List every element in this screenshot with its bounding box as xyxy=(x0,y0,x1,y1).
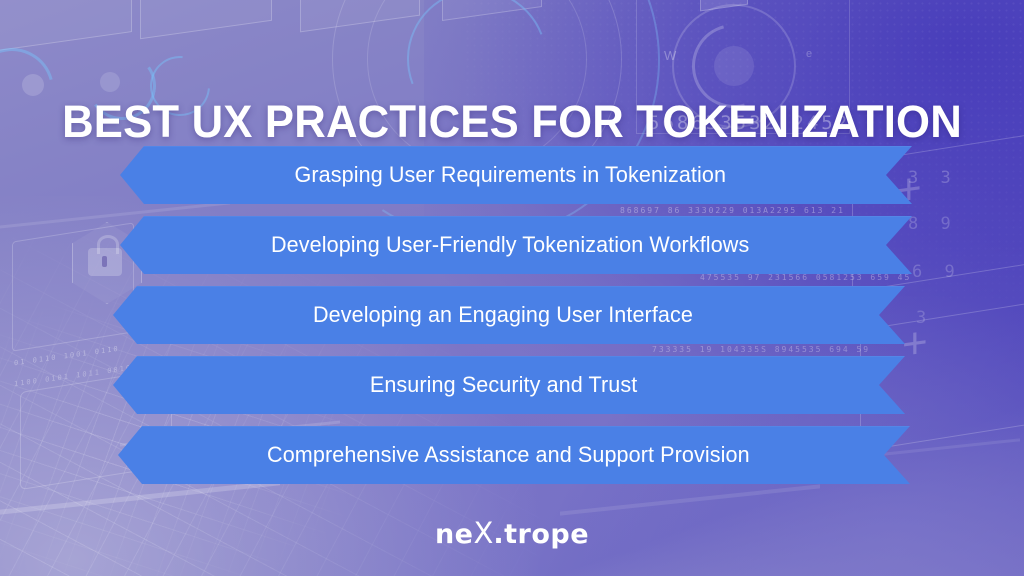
slide-canvas: + + W e 568633532.2452 868697 86 3330229… xyxy=(0,0,1024,576)
slide-title: BEST UX PRACTICES FOR TOKENIZATION xyxy=(15,96,1008,148)
dashboard-panel-outline xyxy=(442,0,542,21)
logo-prefix: ne xyxy=(435,519,474,550)
dashboard-panel-outline xyxy=(140,0,272,39)
practice-banner-label: Ensuring Security and Trust xyxy=(369,372,636,398)
dashboard-panel-outline xyxy=(700,0,748,11)
ring-center-dot xyxy=(100,72,120,92)
logo-suffix: trope xyxy=(504,519,589,550)
dashboard-panel-outline xyxy=(300,0,420,32)
dashboard-panel-outline xyxy=(0,0,132,52)
compass-west-label: W xyxy=(664,48,676,63)
practice-banner-label: Developing User-Friendly Tokenization Wo… xyxy=(271,232,749,258)
compass-east-label: e xyxy=(806,48,812,60)
practice-banner-3[interactable]: Developing an Engaging User Interface xyxy=(113,286,905,344)
practice-banner-5[interactable]: Comprehensive Assistance and Support Pro… xyxy=(118,426,910,484)
practice-banner-label: Grasping User Requirements in Tokenizati… xyxy=(294,162,726,188)
practice-banner-2[interactable]: Developing User-Friendly Tokenization Wo… xyxy=(120,216,912,274)
practice-banner-1[interactable]: Grasping User Requirements in Tokenizati… xyxy=(120,146,912,204)
logo-x-mark: X xyxy=(473,516,493,550)
logo-dot: . xyxy=(493,519,504,550)
practice-banner-4[interactable]: Ensuring Security and Trust xyxy=(113,356,905,414)
practice-list: Grasping User Requirements in Tokenizati… xyxy=(0,146,1024,496)
practice-banner-label: Developing an Engaging User Interface xyxy=(313,302,693,328)
nextrope-logo: neX.trope xyxy=(0,516,1024,550)
ring-center-dot xyxy=(22,74,44,96)
practice-banner-label: Comprehensive Assistance and Support Pro… xyxy=(267,442,750,468)
